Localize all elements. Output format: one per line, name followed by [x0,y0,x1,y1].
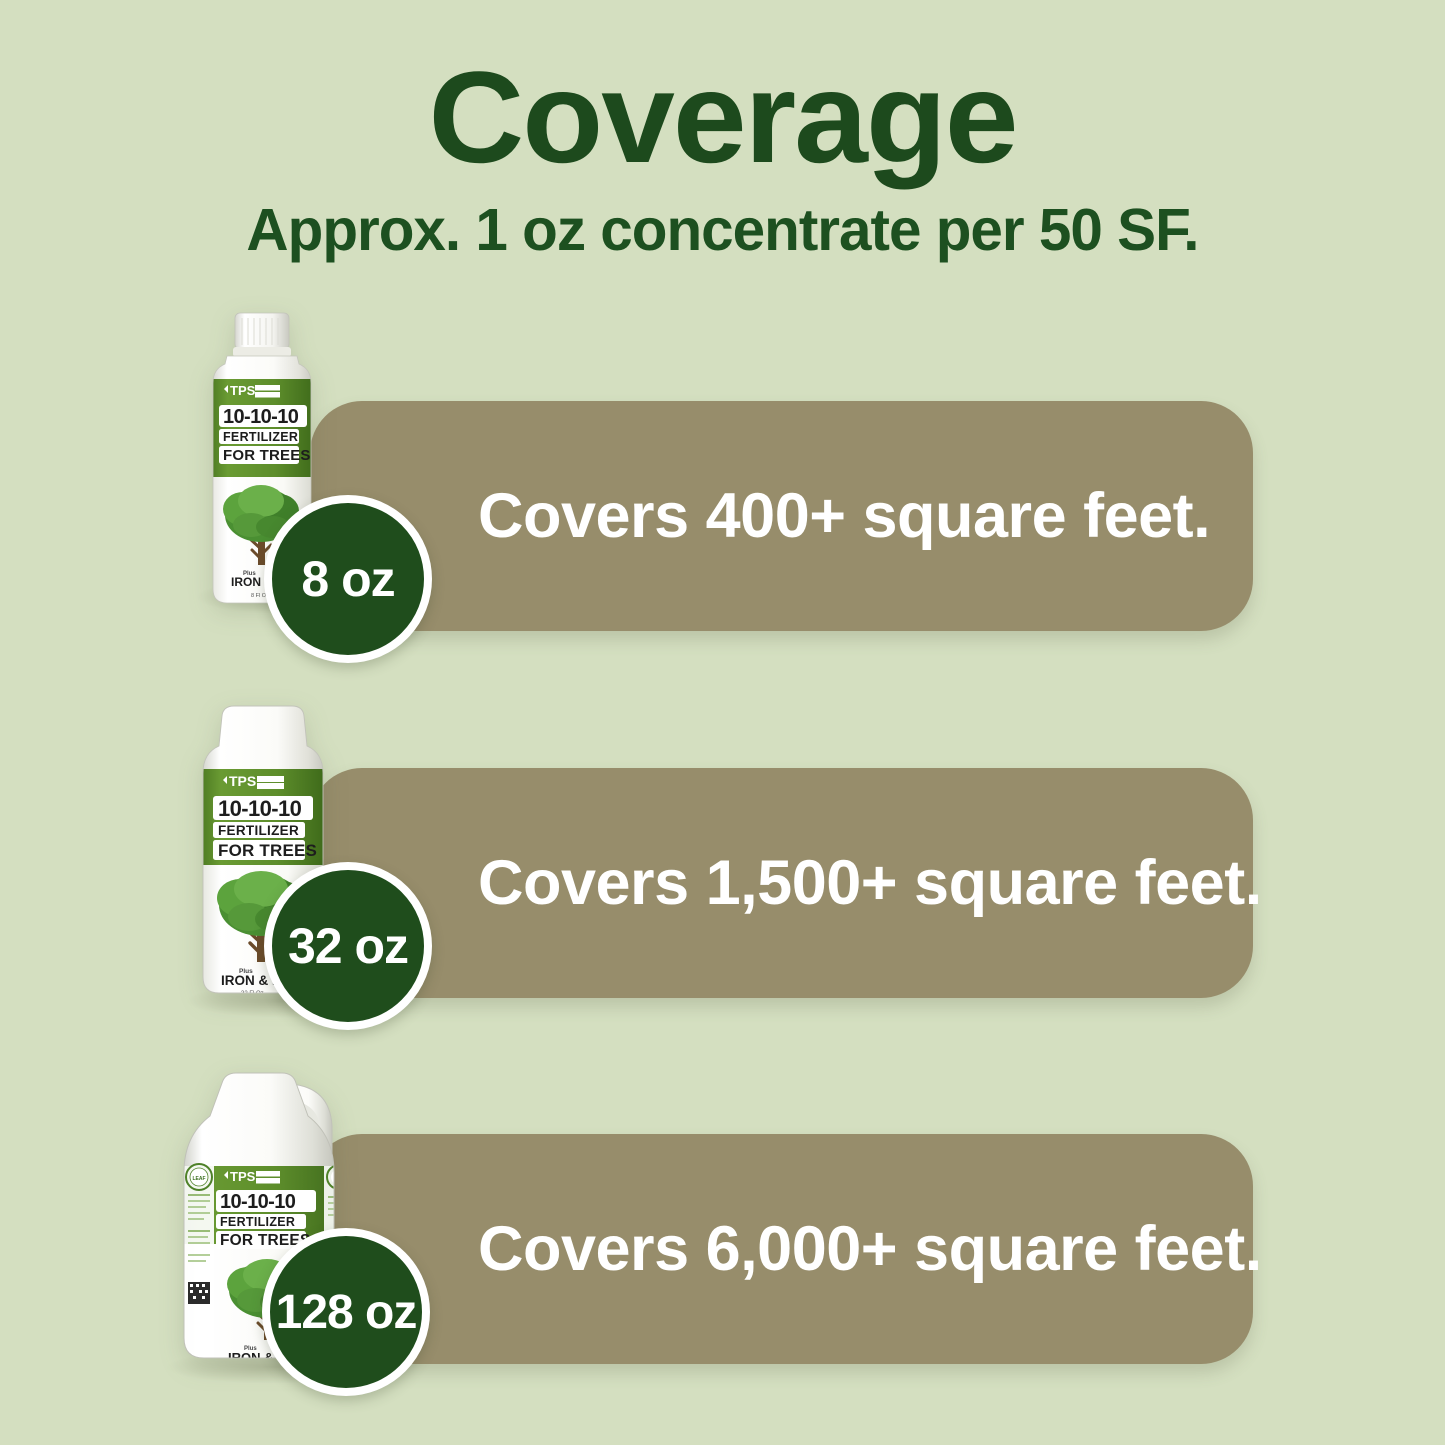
svg-text:FOR TREES: FOR TREES [218,841,317,860]
svg-text:TPS: TPS [230,1169,256,1184]
coverage-text-8oz: Covers 400+ square feet. [478,480,1210,552]
svg-text:FERTILIZER: FERTILIZER [223,430,298,444]
coverage-row-128oz: Covers 6,000+ square feet. [0,1038,1445,1368]
svg-text:ECO: ECO [334,1176,344,1181]
size-badge-label-8oz: 8 oz [301,550,394,608]
tps-logo-icon: TPS [224,1169,280,1184]
svg-text:10-10-10: 10-10-10 [218,796,302,821]
coverage-text-32oz: Covers 1,500+ square feet. [478,847,1262,919]
svg-text:TPS: TPS [229,773,256,789]
coverage-row-32oz: Covers 1,500+ square feet. [0,672,1445,1002]
size-badge-128oz: 128 oz [262,1228,430,1396]
size-badge-label-32oz: 32 oz [288,917,408,975]
coverage-infographic: Coverage Approx. 1 oz concentrate per 50… [0,0,1445,1445]
coverage-bar-128oz: Covers 6,000+ square feet. [310,1134,1253,1364]
coverage-bar-8oz: Covers 400+ square feet. [310,401,1253,631]
svg-text:10-10-10: 10-10-10 [223,406,299,428]
svg-text:128 Fl Oz: 128 Fl Oz [248,1368,272,1374]
coverage-text-128oz: Covers 6,000+ square feet. [478,1213,1262,1285]
header: Coverage Approx. 1 oz concentrate per 50… [0,52,1445,264]
svg-text:32 Fl Oz: 32 Fl Oz [241,991,264,997]
page-title: Coverage [0,52,1445,182]
svg-text:FERTILIZER: FERTILIZER [218,823,299,838]
tps-logo-icon: TPS [224,383,280,398]
size-badge-label-128oz: 128 oz [276,1285,417,1340]
page-subtitle: Approx. 1 oz concentrate per 50 SF. [7,196,1438,264]
svg-text:10-10-10: 10-10-10 [220,1191,296,1213]
size-badge-8oz: 8 oz [264,495,432,663]
size-badge-32oz: 32 oz [264,862,432,1030]
svg-text:FERTILIZER: FERTILIZER [220,1215,295,1229]
svg-text:FOR TREES: FOR TREES [223,447,311,464]
svg-text:LEAF: LEAF [192,1176,205,1182]
coverage-bar-32oz: Covers 1,500+ square feet. [310,768,1253,998]
svg-text:TPS: TPS [230,383,256,398]
coverage-row-8oz: Covers 400+ square feet. [0,305,1445,635]
